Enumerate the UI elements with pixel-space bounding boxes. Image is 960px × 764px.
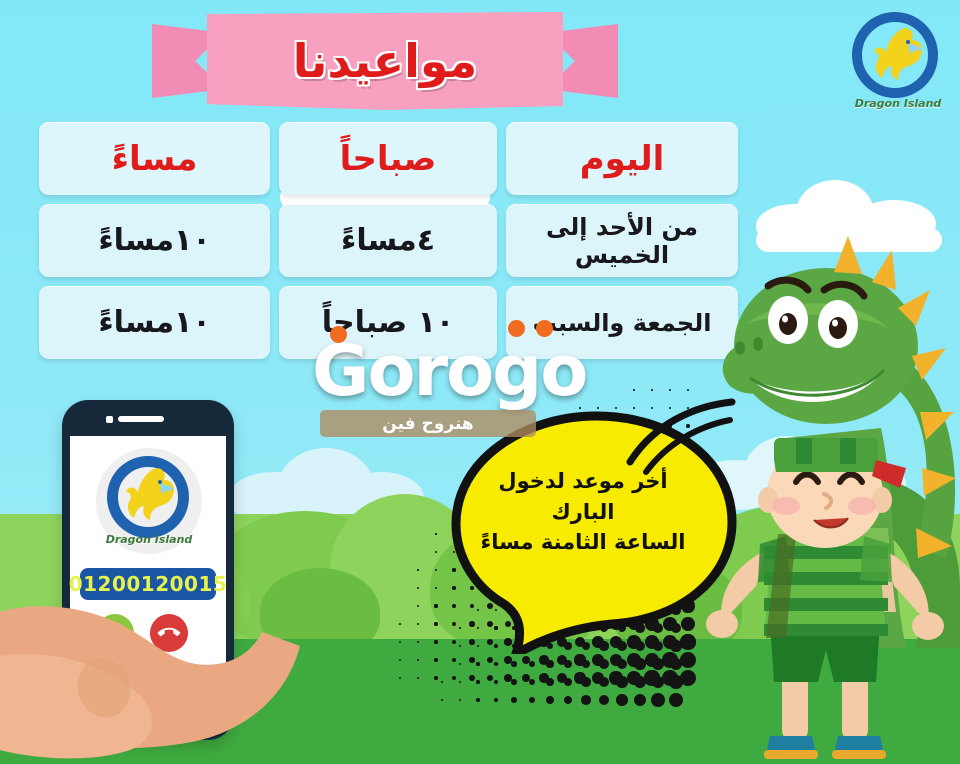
halftone-dot [669,693,683,707]
watermark-tagline: هنروح فين [382,414,473,434]
halftone-dot [651,693,665,707]
halftone-dot [546,678,554,686]
header-cell-day: اليوم [506,122,738,195]
halftone-dot [529,661,535,667]
halftone-dot [599,695,610,706]
halftone-dot [459,681,462,684]
halftone-dot [616,694,628,706]
halftone-dot [511,679,517,685]
banner-ribbon: مواعيدنا [152,12,618,112]
watermark-dot [508,320,525,337]
halftone-dot [459,699,462,702]
halftone-dot [564,660,572,668]
dragon-island-logo: Dragon Island [96,448,202,554]
halftone-dot [476,698,480,702]
halftone-dot [564,696,573,705]
halftone-dot [441,699,443,701]
halftone-dot [459,663,461,665]
halftone-dot [582,660,591,669]
table-row: من الأحد إلى الخميس ٤مساءً ١٠مساءً [36,204,738,277]
halftone-dot [494,680,499,685]
cell-value-morning: ٤مساءً [341,223,435,258]
halftone-dot [652,658,664,670]
poster-canvas: مواعيدنا اليوم صباحاً مساءً من الأحد إلى… [0,0,960,764]
halftone-dot [634,658,645,669]
halftone-dot [616,676,627,687]
header-cell-evening: مساءً [39,122,270,195]
halftone-dot [669,389,671,391]
halftone-dot [494,698,499,703]
header-label-morning: صباحاً [340,139,437,179]
dragon-head-icon [864,22,930,88]
cell-value-day: من الأحد إلى الخميس [514,213,730,269]
watermark-brand: Gorogo [312,338,642,405]
halftone-dot [687,389,689,391]
halftone-dot [546,696,554,704]
halftone-dot [651,389,653,391]
halftone-dot [529,697,536,704]
halftone-dot [670,658,682,670]
halftone-dot [652,676,665,689]
halftone-dot [564,678,572,686]
cell-morning: ٤مساءً [279,204,497,277]
watermark-dot [536,320,553,337]
corner-logo-brand-text: Dragon Island [846,97,950,110]
phone-camera-dot [106,416,113,423]
halftone-dot [599,659,609,669]
phone-speaker [118,416,164,422]
halftone-dot [511,697,517,703]
notice-line-2: الساعة الثامنة مساءً [468,527,698,557]
halftone-dot [599,677,609,687]
cell-evening: ١٠مساءً [39,204,270,277]
halftone-dot [511,661,516,666]
halftone-dot [581,695,591,705]
halftone-dot [441,681,443,683]
dragon-head-icon [116,462,182,528]
halftone-dot [494,662,498,666]
cell-value-evening: ١٠مساءً [98,223,210,258]
dragon-island-corner-logo: Dragon Island [846,8,950,112]
watermark-dot [330,326,347,343]
cell-evening: ١٠مساءً [39,286,270,359]
halftone-dot [634,676,646,688]
header-cell-morning: صباحاً [279,122,497,195]
watermark: Gorogo هنروح فين [312,338,642,405]
watermark-tagline-badge: هنروح فين [320,410,536,437]
hand-holding-phone [0,560,330,764]
halftone-dot [476,662,479,665]
halftone-dot [581,677,590,686]
cell-value-evening: ١٠مساءً [98,305,210,340]
cell-day: من الأحد إلى الخميس [506,204,738,277]
halftone-dot [669,675,682,688]
table-header-row: اليوم صباحاً مساءً [36,122,738,195]
banner-title: مواعيدنا [152,12,618,110]
header-label-day: اليوم [580,139,665,179]
logo-brand-text: Dragon Island [96,533,202,546]
halftone-dot [476,680,480,684]
halftone-dot [634,694,647,707]
halftone-dot [546,660,553,667]
notice-text: أخر موعد لدخول البارك الساعة الثامنة مسا… [440,466,726,557]
halftone-dot [617,659,628,670]
halftone-dot [529,679,536,686]
motion-lines-icon [620,398,740,478]
header-label-evening: مساءً [112,139,198,179]
